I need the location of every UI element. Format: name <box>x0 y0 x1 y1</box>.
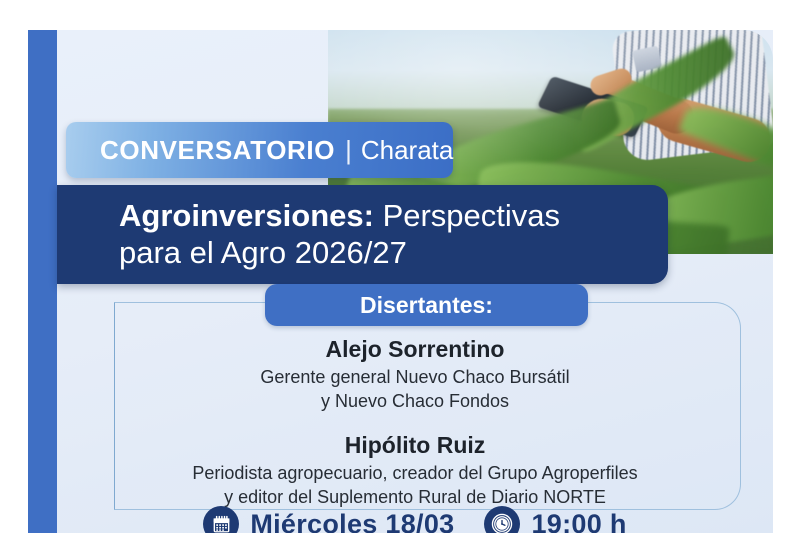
banner-separator: | <box>345 135 352 166</box>
speaker-entry: Alejo Sorrentino Gerente general Nuevo C… <box>57 335 773 413</box>
event-title-line-2: para el Agro 2026/27 <box>119 235 668 272</box>
speaker-name: Alejo Sorrentino <box>57 335 773 365</box>
speaker-entry: Hipólito Ruiz Periodista agropecuario, c… <box>57 431 773 509</box>
event-time-item: 19:00 h <box>484 506 626 533</box>
speakers-list: Alejo Sorrentino Gerente general Nuevo C… <box>57 335 773 521</box>
event-date-text: Miércoles 18/03 <box>250 509 454 534</box>
event-poster-card: CONVERSATORIO | Charata Agroinversiones:… <box>28 30 773 533</box>
event-footer: Miércoles 18/03 19:00 h <box>57 506 773 533</box>
speakers-heading-pill: Disertantes: <box>265 284 588 326</box>
calendar-icon <box>203 506 239 533</box>
banner-location-label: Charata <box>361 135 454 166</box>
event-title-highlight: Agroinversiones: <box>119 198 374 233</box>
event-title-line-1: Agroinversiones: Perspectivas <box>119 198 668 235</box>
speaker-role-line: Gerente general Nuevo Chaco Bursátil <box>57 366 773 389</box>
speaker-role-line: y Nuevo Chaco Fondos <box>57 390 773 413</box>
event-time-text: 19:00 h <box>531 509 626 534</box>
speaker-role-line: Periodista agropecuario, creador del Gru… <box>57 462 773 485</box>
event-date-item: Miércoles 18/03 <box>203 506 454 533</box>
event-title-box: Agroinversiones: Perspectivas para el Ag… <box>57 185 668 284</box>
speaker-name: Hipólito Ruiz <box>57 431 773 461</box>
banner-category-label: CONVERSATORIO <box>100 135 335 166</box>
clock-icon <box>484 506 520 533</box>
speakers-heading-label: Disertantes: <box>360 292 493 319</box>
category-banner: CONVERSATORIO | Charata <box>66 122 453 178</box>
event-title-subject: Perspectivas <box>374 198 560 233</box>
